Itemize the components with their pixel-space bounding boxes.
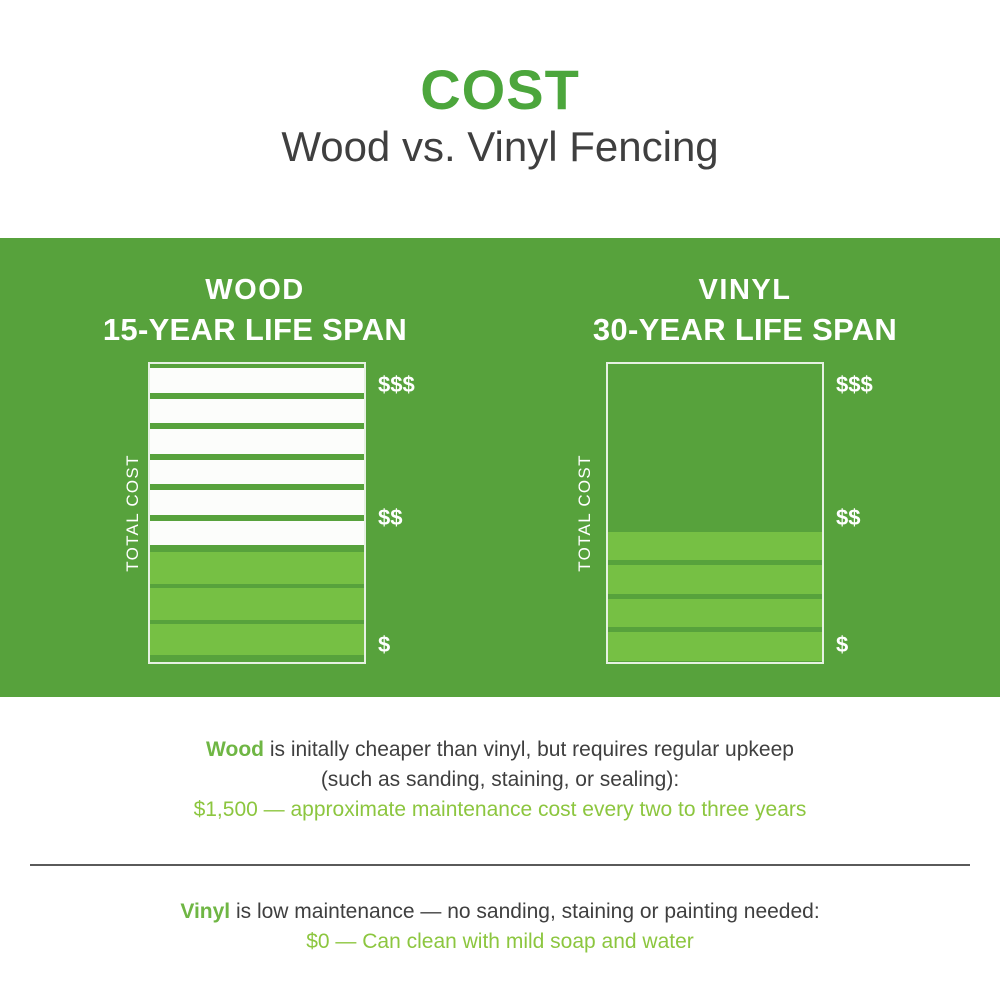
note-wood-line1-rest: is initally cheaper than vinyl, but requ…	[264, 738, 794, 761]
bar-chart-vinyl	[606, 362, 824, 664]
panel-lifespan-vinyl: 30-YEAR LIFE SPAN	[500, 305, 990, 345]
y-axis-label-wood: TOTAL COST	[120, 362, 146, 664]
note-wood: Wood is initally cheaper than vinyl, but…	[0, 735, 1000, 824]
chart-wrap-wood: TOTAL COST $$$$$$	[10, 362, 500, 672]
bar-segment-initial	[150, 552, 364, 584]
bar-segment-initial	[150, 588, 364, 620]
note-wood-lead: Wood	[206, 738, 264, 761]
panel-heading-wood: WOOD 15-YEAR LIFE SPAN	[10, 238, 500, 345]
page-subtitle: Wood vs. Vinyl Fencing	[0, 126, 1000, 168]
y-tick-1: $	[378, 634, 390, 656]
bar-segment-initial	[150, 624, 364, 656]
chart-band: WOOD 15-YEAR LIFE SPAN TOTAL COST $$$$$$…	[0, 238, 1000, 697]
y-tick-2: $$	[836, 507, 860, 529]
bar-segment-initial	[608, 599, 822, 628]
infographic-root: COST Wood vs. Vinyl Fencing WOOD 15-YEAR…	[0, 0, 1000, 1000]
chart-panel-vinyl: VINYL 30-YEAR LIFE SPAN TOTAL COST $$$$$…	[500, 238, 990, 697]
bar-segment-initial	[608, 565, 822, 594]
bar-segment-maintenance	[150, 399, 364, 424]
header: COST Wood vs. Vinyl Fencing	[0, 0, 1000, 238]
note-vinyl-line1-rest: is low maintenance — no sanding, stainin…	[230, 900, 820, 923]
y-axis-ticks-vinyl: $$$$$$	[830, 362, 920, 664]
panel-heading-vinyl: VINYL 30-YEAR LIFE SPAN	[500, 238, 990, 345]
y-tick-2: $$	[378, 507, 402, 529]
panel-material-wood: WOOD	[10, 238, 500, 305]
bar-segment-maintenance	[150, 521, 364, 546]
y-axis-ticks-wood: $$$$$$	[372, 362, 462, 664]
note-wood-line1: Wood is initally cheaper than vinyl, but…	[0, 735, 1000, 765]
chart-wrap-vinyl: TOTAL COST $$$$$$	[500, 362, 990, 672]
y-axis-label-text-vinyl: TOTAL COST	[575, 454, 595, 572]
bar-segment-maintenance	[150, 460, 364, 485]
bar-chart-wood	[148, 362, 366, 664]
note-vinyl-line1: Vinyl is low maintenance — no sanding, s…	[0, 897, 1000, 927]
bar-segment-initial	[608, 532, 822, 561]
page-title: COST	[0, 62, 1000, 118]
note-wood-line2: (such as sanding, staining, or sealing):	[0, 765, 1000, 795]
chart-panel-wood: WOOD 15-YEAR LIFE SPAN TOTAL COST $$$$$$	[10, 238, 500, 697]
bar-segment-initial	[608, 632, 822, 661]
y-axis-label-text-wood: TOTAL COST	[123, 454, 143, 572]
notes-divider	[30, 864, 970, 866]
note-vinyl-cost: $0 — Can clean with mild soap and water	[0, 927, 1000, 957]
y-tick-3: $$$	[378, 374, 415, 396]
y-axis-label-vinyl: TOTAL COST	[572, 362, 598, 664]
notes-section: Wood is initally cheaper than vinyl, but…	[0, 697, 1000, 1000]
note-vinyl-lead: Vinyl	[180, 900, 230, 923]
panel-lifespan-wood: 15-YEAR LIFE SPAN	[10, 305, 500, 345]
panel-material-vinyl: VINYL	[500, 238, 990, 305]
bar-segment-maintenance	[150, 429, 364, 454]
y-tick-3: $$$	[836, 374, 873, 396]
note-wood-cost: $1,500 — approximate maintenance cost ev…	[0, 795, 1000, 825]
bar-segment-maintenance	[150, 368, 364, 393]
note-vinyl: Vinyl is low maintenance — no sanding, s…	[0, 897, 1000, 957]
bar-segment-maintenance	[150, 490, 364, 515]
y-tick-1: $	[836, 634, 848, 656]
